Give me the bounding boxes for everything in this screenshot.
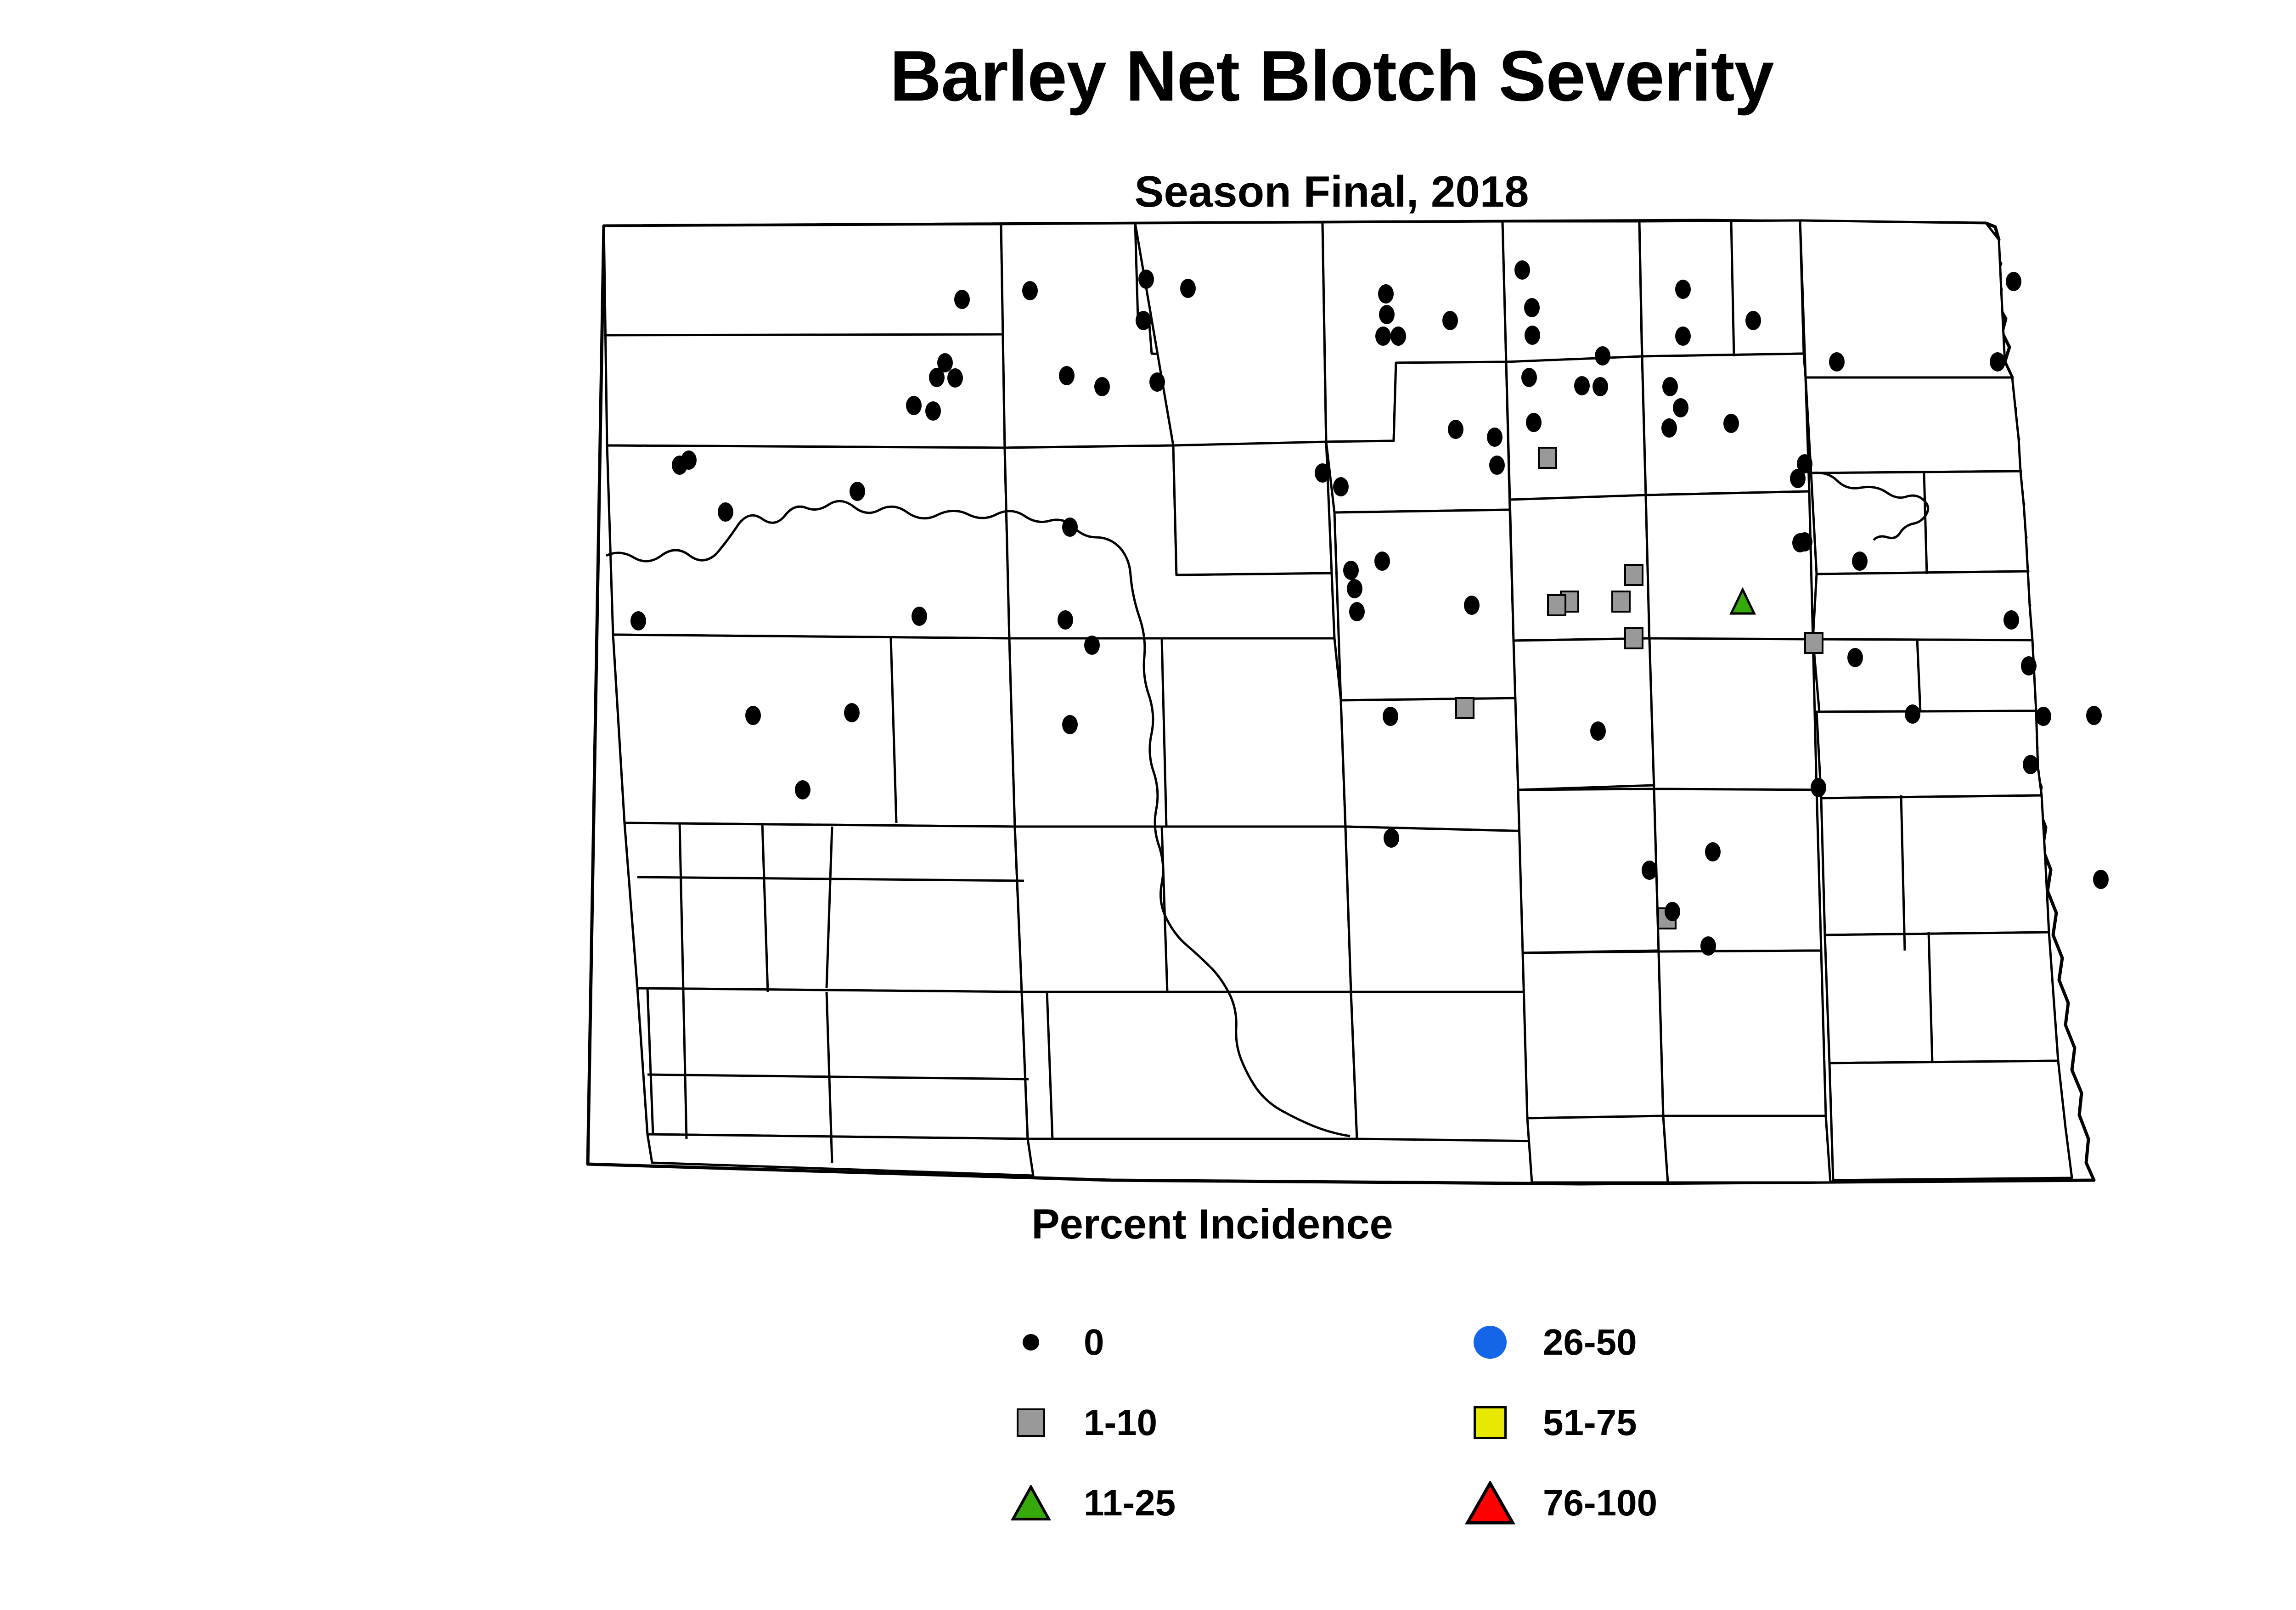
map-marker-0: [1442, 311, 1458, 330]
map-marker-1-10: [1612, 591, 1630, 612]
county: [1829, 1061, 2072, 1180]
county: [1813, 571, 2032, 640]
map-marker-0: [1489, 456, 1505, 475]
map-marker-0: [1524, 298, 1540, 317]
map-marker-0: [2023, 755, 2038, 774]
map-marker-0: [1059, 366, 1075, 385]
map-marker-0: [1661, 418, 1677, 438]
map-marker-0: [1700, 936, 1716, 956]
map-marker-0: [1375, 327, 1391, 346]
map-marker-0: [1905, 704, 1920, 724]
county: [1659, 951, 1826, 1116]
map-marker-0: [1448, 420, 1463, 439]
map-marker-0: [1084, 636, 1100, 655]
map-marker-0: [1384, 828, 1399, 848]
map-marker-0: [1180, 279, 1196, 298]
county: [1022, 992, 1357, 1139]
legend-swatch-circle-blue-icon: [1456, 1326, 1525, 1359]
map-marker-0: [929, 368, 945, 387]
map-marker-0: [2003, 610, 2019, 630]
map-marker-0: [1525, 326, 1540, 345]
map-marker-0: [1378, 284, 1394, 304]
county: [1663, 1116, 1830, 1182]
county: [1514, 638, 1654, 790]
map-marker-0: [1390, 327, 1406, 346]
legend-item-1-10: 1-10: [996, 1404, 1456, 1441]
county: [1173, 442, 1332, 575]
map-marker-0: [954, 290, 970, 309]
map-marker-0: [947, 368, 963, 388]
county: [607, 445, 1009, 638]
map-marker-0: [1745, 311, 1761, 330]
map-marker-0: [2036, 707, 2051, 726]
map-marker-0: [906, 396, 922, 415]
map-marker-0: [1847, 648, 1863, 667]
legend-title: Percent Incidence: [569, 1203, 1855, 1245]
triangle-green-glyph: [1011, 1485, 1051, 1521]
legend-swatch-circle-black-icon: [996, 1334, 1065, 1351]
county: [647, 1134, 1033, 1176]
legend-item-26-50: 26-50: [1456, 1324, 1915, 1361]
county: [1800, 220, 2012, 377]
map-marker-0: [1058, 610, 1073, 630]
county: [1825, 932, 2058, 1063]
map-marker-0: [1315, 463, 1330, 483]
county: [1654, 789, 1821, 951]
map-marker-0: [1464, 596, 1480, 615]
map-marker-1-10: [1539, 448, 1556, 468]
map-marker-0: [1022, 281, 1038, 300]
map-marker-0: [1852, 552, 1868, 571]
county: [1649, 638, 1817, 790]
map-marker-0: [630, 611, 646, 630]
legend-label-11-25: 11-25: [1084, 1485, 1176, 1521]
county: [1821, 795, 2049, 935]
map-marker-0: [1990, 352, 2005, 372]
map-marker-0: [1062, 715, 1078, 734]
map-marker-0: [1811, 778, 1826, 797]
map-marker-0: [1526, 413, 1542, 432]
map-marker-0: [1675, 280, 1691, 299]
map-marker-0: [1593, 377, 1608, 396]
county: [1503, 221, 1642, 363]
legend-label-51-75: 51-75: [1543, 1404, 1637, 1441]
legend-swatch-triangle-red-icon: [1456, 1481, 1525, 1525]
map-marker-0: [1138, 270, 1154, 289]
map-marker-0: [1379, 305, 1395, 324]
map-marker-0: [2006, 272, 2021, 291]
map-marker-0: [2086, 706, 2102, 725]
legend-grid: 0 26-50 1-10 51-75: [996, 1302, 2099, 1543]
county: [1817, 711, 2042, 798]
legend-label-1-10: 1-10: [1084, 1404, 1157, 1441]
map-marker-0: [745, 706, 761, 725]
county: [625, 823, 1022, 992]
county: [1646, 491, 1813, 642]
county: [1813, 639, 2036, 712]
map-marker-0: [1574, 376, 1590, 395]
county: [604, 334, 1005, 335]
map-marker-1-10: [1548, 595, 1565, 615]
map-marker-1-10: [1625, 628, 1643, 648]
map-marker-0: [1792, 533, 1808, 552]
county: [1015, 827, 1351, 992]
map-marker-0: [1347, 579, 1362, 598]
county: [1518, 789, 1659, 953]
map-marker-0: [925, 401, 941, 421]
map-marker-0: [1642, 861, 1657, 880]
map-marker-0: [1149, 372, 1165, 392]
legend: Percent Incidence 0 26-50 1-10: [569, 1203, 2213, 1552]
legend-row: 1-10 51-75: [996, 1382, 2099, 1463]
map-marker-0: [1665, 902, 1680, 921]
county: [1523, 951, 1663, 1118]
map-marker-0: [1062, 518, 1078, 537]
map-container: [569, 216, 2213, 1199]
county: [637, 988, 1028, 1139]
legend-swatch-square-yellow-icon: [1456, 1406, 1525, 1439]
county: [1639, 220, 1804, 356]
map-marker-0: [1790, 469, 1806, 488]
legend-swatch-triangle-green-icon: [996, 1485, 1065, 1521]
map-marker-1-10: [1456, 698, 1474, 718]
triangle-red-glyph: [1465, 1481, 1515, 1525]
map-marker-0: [1349, 602, 1365, 621]
map-marker-0: [1383, 707, 1398, 726]
page-root: Barley Net Blotch Severity Season Final,…: [0, 0, 2296, 1610]
map-marker-1-10: [1805, 633, 1823, 653]
map-marker-0: [1521, 368, 1537, 387]
map-marker-0: [672, 456, 687, 475]
legend-item-76-100: 76-100: [1456, 1481, 1915, 1525]
county: [1351, 992, 1539, 1141]
map-marker-0: [1705, 842, 1721, 861]
map-marker-0: [718, 502, 733, 522]
map-marker-0: [2093, 870, 2109, 889]
page-subtitle: Season Final, 2018: [0, 170, 2296, 214]
county: [1009, 638, 1345, 827]
map-marker-0: [1094, 377, 1110, 396]
map-marker-0: [1487, 428, 1503, 447]
map-marker-0: [844, 703, 860, 722]
map-marker-0: [1675, 327, 1691, 346]
map-marker-0: [795, 780, 810, 799]
legend-item-51-75: 51-75: [1456, 1404, 1915, 1441]
map-marker-0: [1829, 352, 1845, 372]
legend-label-76-100: 76-100: [1543, 1485, 1657, 1521]
map-marker-0: [1343, 561, 1359, 580]
county: [1345, 827, 1534, 992]
map-marker-0: [2021, 656, 2037, 676]
map-marker-0: [1595, 346, 1610, 366]
map-marker-0: [912, 607, 927, 626]
legend-row: 0 26-50: [996, 1302, 2099, 1382]
map-marker-0: [1590, 721, 1606, 741]
legend-label-0: 0: [1084, 1324, 1104, 1361]
county: [1527, 1116, 1668, 1182]
county: [613, 635, 1015, 827]
legend-swatch-square-gray-icon: [996, 1408, 1065, 1437]
map-marker-0: [1333, 477, 1349, 496]
map-marker-0: [1136, 311, 1151, 330]
map-marker-0: [1374, 552, 1390, 571]
map-marker-0: [1662, 377, 1678, 396]
north-dakota-county-map: [569, 216, 2213, 1199]
county: [1806, 377, 2020, 473]
map-marker-0: [1723, 414, 1739, 433]
map-marker-0: [1514, 260, 1530, 280]
county: [1334, 510, 1524, 700]
page-title: Barley Net Blotch Severity: [0, 40, 2296, 112]
map-marker-0: [850, 482, 865, 501]
county-boundaries: [588, 220, 2094, 1184]
county: [1341, 698, 1529, 831]
legend-row: 11-25 76-100: [996, 1463, 2099, 1543]
map-marker-1-10: [1625, 565, 1643, 585]
legend-item-0: 0: [996, 1324, 1456, 1361]
legend-label-26-50: 26-50: [1543, 1324, 1637, 1361]
map-marker-0: [1673, 398, 1688, 417]
legend-item-11-25: 11-25: [996, 1485, 1456, 1521]
